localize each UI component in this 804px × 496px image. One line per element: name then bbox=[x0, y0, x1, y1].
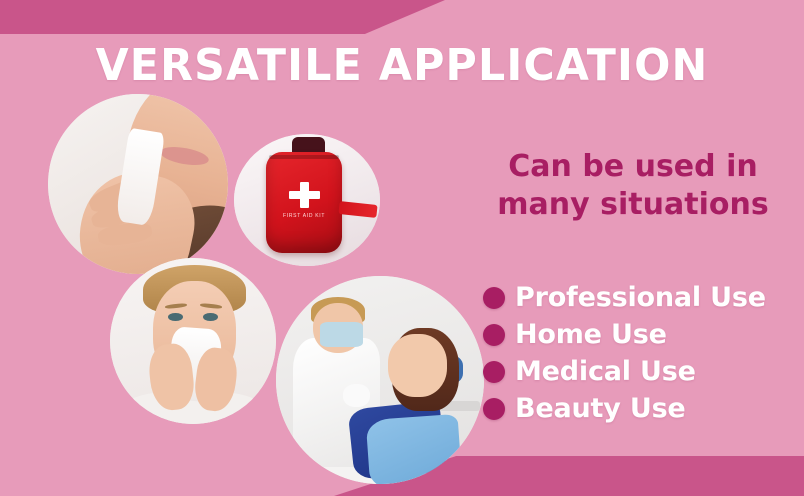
photo-content bbox=[48, 94, 228, 274]
surgical-mask bbox=[320, 322, 364, 347]
kit-label: FIRST AID KIT bbox=[271, 213, 338, 219]
photo-content bbox=[276, 276, 484, 484]
photo-first-aid-kit: FIRST AID KIT bbox=[234, 134, 380, 266]
medical-cross-icon bbox=[289, 191, 320, 199]
list-item: Beauty Use bbox=[483, 393, 798, 424]
list-item-label: Home Use bbox=[515, 319, 667, 350]
use-case-list: Professional Use Home Use Medical Use Be… bbox=[483, 282, 798, 430]
lead-line-1: Can be used in bbox=[508, 149, 757, 184]
poster-canvas: VERSATILE APPLICATION FIRST AID KIT bbox=[0, 0, 804, 496]
list-item-label: Medical Use bbox=[515, 356, 696, 387]
page-title: VERSATILE APPLICATION bbox=[12, 40, 792, 91]
lead-line-2: many situations bbox=[470, 186, 796, 224]
photo-woman-blowing-nose bbox=[110, 258, 276, 424]
list-item: Professional Use bbox=[483, 282, 798, 313]
bullet-dot-icon bbox=[483, 361, 505, 383]
list-item-label: Professional Use bbox=[515, 282, 766, 313]
photo-dentist-treating-patient bbox=[276, 276, 484, 484]
list-item: Medical Use bbox=[483, 356, 798, 387]
photo-content: FIRST AID KIT bbox=[234, 134, 380, 266]
bullet-dot-icon bbox=[483, 324, 505, 346]
list-item-label: Beauty Use bbox=[515, 393, 686, 424]
bullet-dot-icon bbox=[483, 287, 505, 309]
bullet-dot-icon bbox=[483, 398, 505, 420]
photo-content bbox=[110, 258, 276, 424]
photo-woman-wiping-face bbox=[48, 94, 228, 274]
list-item: Home Use bbox=[483, 319, 798, 350]
lead-statement: Can be used in many situations bbox=[470, 148, 796, 224]
top-accent-band bbox=[0, 0, 445, 34]
